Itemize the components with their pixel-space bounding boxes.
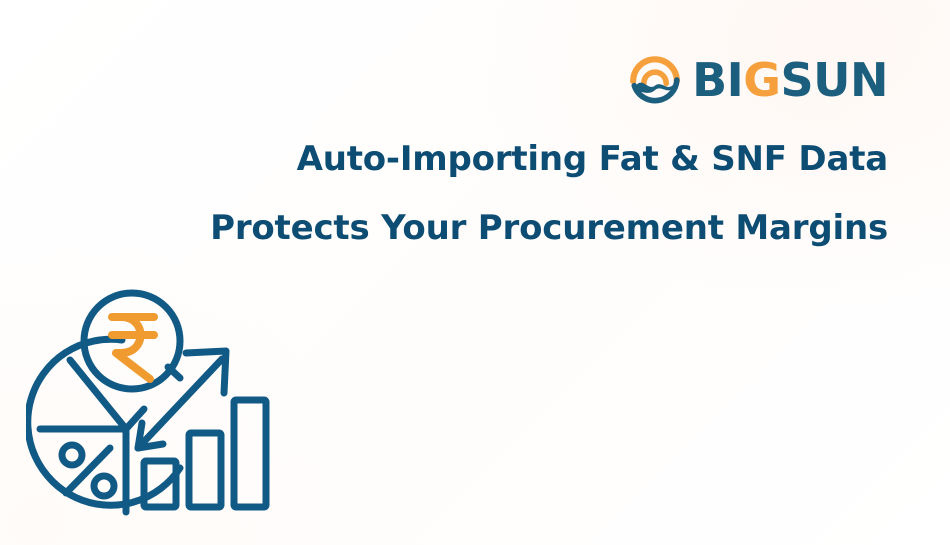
bigsun-logo[interactable]: BIGSUN (627, 52, 888, 108)
percent-symbol (62, 445, 114, 496)
headline-block: Auto-Importing Fat & SNF Data Protects Y… (150, 142, 888, 245)
headline-line-1: Auto-Importing Fat & SNF Data (150, 142, 888, 176)
analytics-illustration (26, 283, 278, 533)
headline-line-2: Protects Your Procurement Margins (150, 211, 888, 245)
promo-banner: BIGSUN Auto-Importing Fat & SNF Data Pro… (0, 0, 950, 545)
rupee-symbol (112, 317, 154, 379)
bigsun-sun-wave-mark-icon (627, 52, 683, 108)
coin-arrow-tick (168, 367, 180, 378)
bigsun-wordmark: BIGSUN (692, 57, 888, 103)
wordmark-segment-bi: BI (692, 57, 743, 103)
wordmark-segment-sun: SUN (781, 57, 888, 103)
wordmark-segment-g: G (743, 57, 780, 103)
